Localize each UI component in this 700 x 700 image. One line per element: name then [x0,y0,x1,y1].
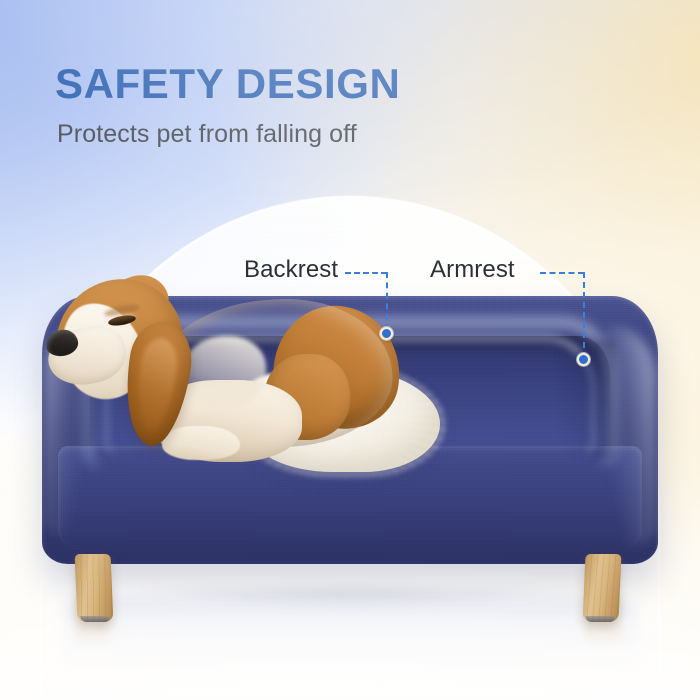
dog-shoulder-fur [182,336,266,406]
product-marketing-image: SAFETY DESIGN Protects pet from falling … [0,0,700,700]
callout-dot-armrest [577,353,590,366]
dog-front-paws [162,426,240,460]
leg-cap-left [80,616,110,622]
sofa-leg-right [583,554,622,622]
callout-leader-backrest-vertical [386,272,388,330]
armrest-rim-highlight-right [604,326,656,546]
callout-dot-backrest [380,327,393,340]
callout-label-armrest: Armrest [430,256,515,284]
leg-cap-right [586,616,616,622]
page-subtitle: Protects pet from falling off [57,120,357,149]
sofa-leg-left [75,554,114,622]
page-title: SAFETY DESIGN [55,62,400,106]
callout-leader-backrest-horizontal [345,272,387,274]
sofa-reflection [62,598,638,684]
callout-leader-armrest-horizontal [540,272,584,274]
callout-leader-armrest-vertical [583,272,585,358]
beagle-dog [42,276,402,506]
callout-label-backrest: Backrest [244,256,338,284]
